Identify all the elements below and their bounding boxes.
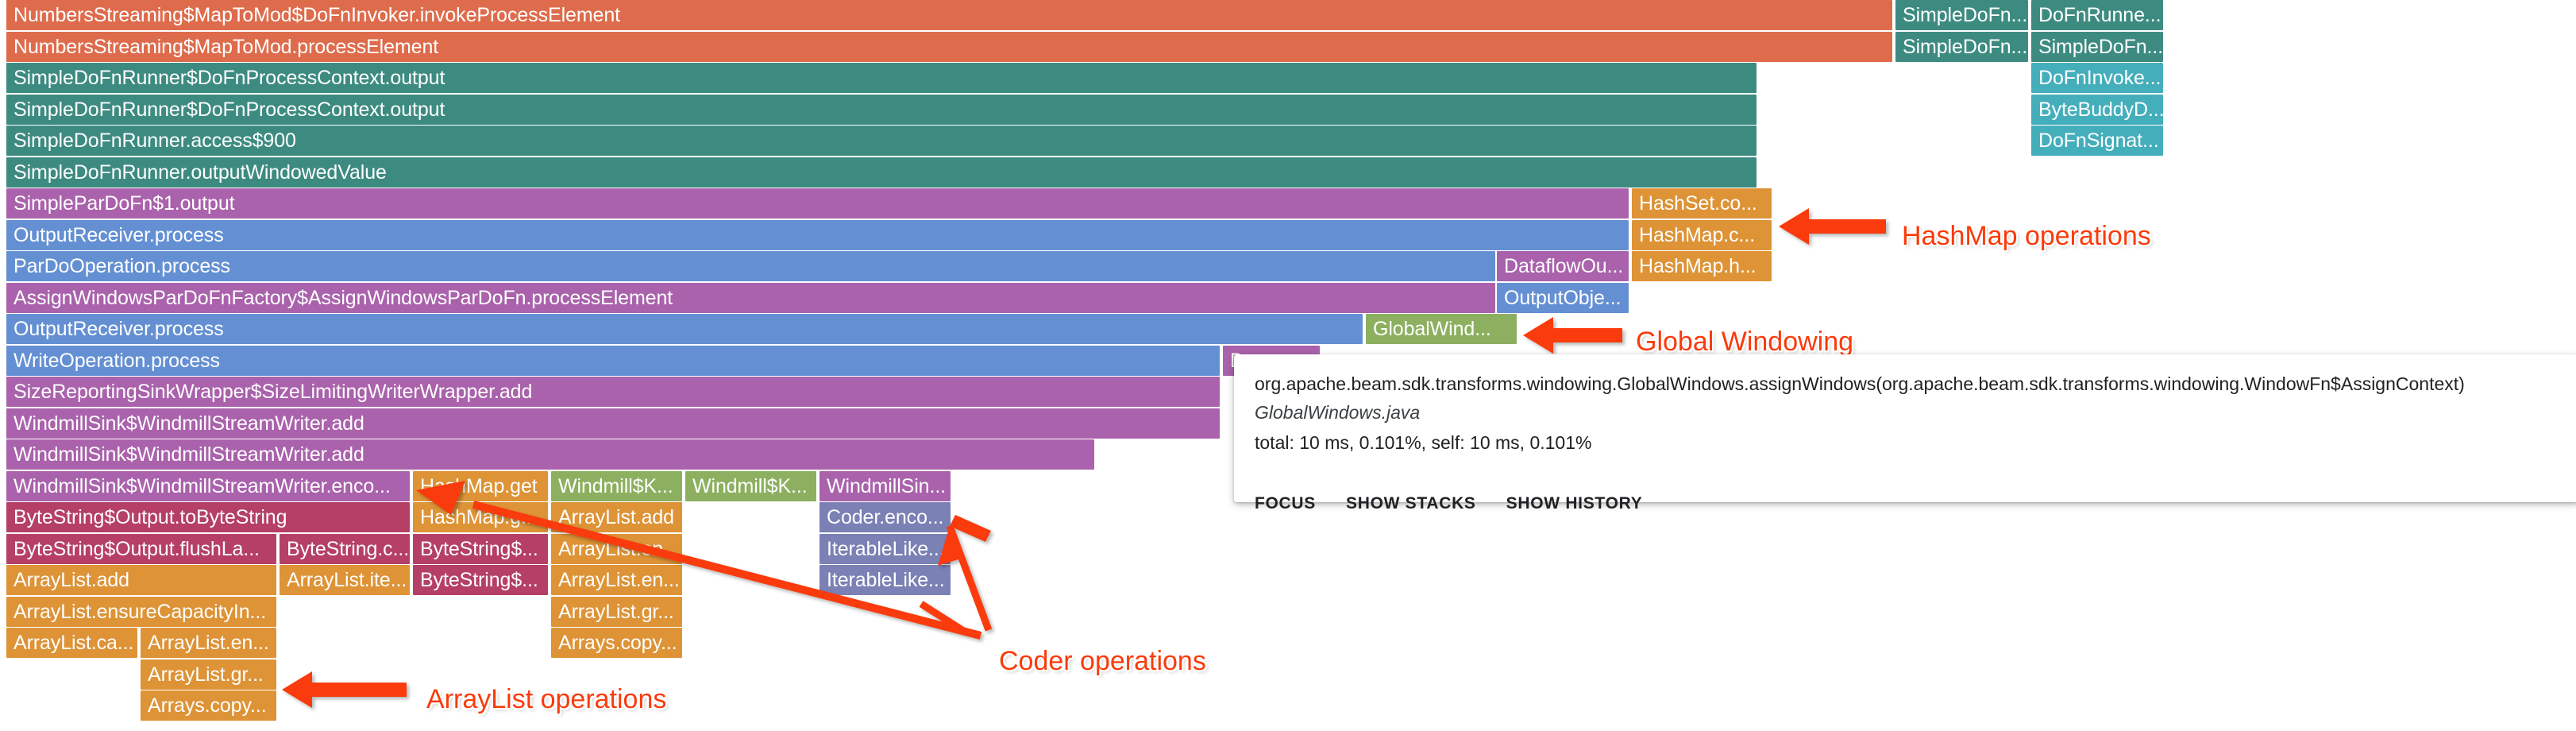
hashmap-arrow	[1779, 208, 1886, 245]
flame-frame-label: Windmill$K...	[558, 471, 682, 501]
flame-frame[interactable]: Windmill$K...	[685, 471, 816, 501]
flame-frame-label: ByteBuddyD...	[2038, 95, 2163, 125]
show-history-button[interactable]: SHOW HISTORY	[1506, 494, 1643, 513]
flame-frame-label: ArrayList.add	[558, 502, 682, 532]
flame-frame-label: GlobalWind...	[1373, 314, 1517, 344]
flame-frame[interactable]: ArrayList.ensureCapacityIn...	[6, 597, 276, 627]
flame-frame-label: WindmillSink$WindmillStreamWriter.add	[13, 439, 1094, 470]
flame-frame[interactable]: ByteString$...	[413, 534, 548, 564]
flame-frame-label: OutputObje...	[1504, 283, 1629, 313]
flame-frame[interactable]: Coder.enco...	[819, 502, 951, 532]
flame-frame-label: WindmillSink$WindmillStreamWriter.enco..…	[13, 471, 410, 501]
flame-frame[interactable]: DataflowOu...	[1497, 251, 1629, 281]
flame-frame-label: ArrayList.gr...	[148, 659, 276, 690]
flame-frame[interactable]: SimpleDoFnRunner$DoFnProcessContext.outp…	[6, 63, 1757, 93]
flame-frame[interactable]: ArrayList.en...	[551, 565, 682, 595]
flame-frame[interactable]: SimpleParDoFn$1.output	[6, 188, 1629, 219]
flame-frame[interactable]: NumbersStreaming$MapToMod$DoFnInvoker.in…	[6, 0, 1892, 30]
flame-frame-label: HashMap.get	[420, 471, 548, 501]
flame-frame-label: SimpleDoFnRunner.access$900	[13, 126, 1757, 156]
flame-frame[interactable]: ArrayList.en...	[141, 628, 276, 658]
flame-frame[interactable]: HashMap.h...	[1632, 251, 1772, 281]
flame-frame-label: SimpleDoFnRunner$DoFnProcessContext.outp…	[13, 95, 1757, 125]
flame-frame-label: HashMap.c...	[1639, 220, 1772, 250]
flame-frame[interactable]: ByteString$...	[413, 565, 548, 595]
flame-frame-label: ArrayList.en...	[558, 534, 682, 564]
flame-frame-label: IterableLike...	[827, 534, 951, 564]
flame-frame[interactable]: WindmillSink$WindmillStreamWriter.enco..…	[6, 471, 410, 501]
flame-frame[interactable]: IterableLike...	[819, 534, 951, 564]
flame-frame-label: OutputReceiver.process	[13, 314, 1363, 344]
flame-frame-label: SizeReportingSinkWrapper$SizeLimitingWri…	[13, 377, 1220, 407]
flame-frame[interactable]: Arrays.copy...	[551, 628, 682, 658]
flame-frame[interactable]: SimpleDoFn...	[2031, 32, 2163, 62]
tooltip-stats: total: 10 ms, 0.101%, self: 10 ms, 0.101…	[1255, 429, 2559, 456]
flame-frame-label: DoFnInvoke...	[2038, 63, 2163, 93]
flame-frame-label: SimpleDoFn...	[2038, 32, 2163, 62]
flame-frame-label: NumbersStreaming$MapToMod.processElement	[13, 32, 1892, 62]
flame-graph-view: NumbersStreaming$MapToMod$DoFnInvoker.in…	[0, 0, 2576, 731]
flame-frame-label: ParDoOperation.process	[13, 251, 1495, 281]
annotation-arraylist-operations: ArrayList operations	[426, 683, 666, 715]
flame-frame-label: HashMap.g...	[420, 502, 548, 532]
flame-frame-label: DoFnSignat...	[2038, 126, 2163, 156]
flame-frame[interactable]: WindmillSin...	[819, 471, 951, 501]
flame-frame[interactable]: OutputReceiver.process	[6, 220, 1629, 250]
flame-frame[interactable]: HashMap.get	[413, 471, 548, 501]
flame-frame-label: ByteString.c...	[287, 534, 410, 564]
flame-frame-label: WriteOperation.process	[13, 346, 1220, 376]
flame-frame-label: WindmillSink$WindmillStreamWriter.add	[13, 408, 1220, 439]
flame-frame-label: ArrayList.ensureCapacityIn...	[13, 597, 276, 627]
flame-frame-label: Arrays.copy...	[558, 628, 682, 658]
flame-frame[interactable]: NumbersStreaming$MapToMod.processElement	[6, 32, 1892, 62]
flame-frame[interactable]: ByteString.c...	[280, 534, 410, 564]
flame-frame-label: IterableLike...	[827, 565, 951, 595]
flame-frame[interactable]: ArrayList.ca...	[6, 628, 137, 658]
flame-frame-label: SimpleParDoFn$1.output	[13, 188, 1629, 219]
flame-frame-label: ArrayList.en...	[148, 628, 276, 658]
flame-frame-label: ArrayList.ca...	[13, 628, 137, 658]
flame-frame[interactable]: SimpleDoFnRunner.access$900	[6, 126, 1757, 156]
flame-frame-label: SimpleDoFn...	[1903, 0, 2028, 30]
flame-frame-label: AssignWindowsParDoFnFactory$AssignWindow…	[13, 283, 1495, 313]
flame-frame[interactable]: HashMap.c...	[1632, 220, 1772, 250]
flame-frame[interactable]: AssignWindowsParDoFnFactory$AssignWindow…	[6, 283, 1495, 313]
tooltip-file: GlobalWindows.java	[1255, 399, 2559, 426]
flame-frame[interactable]: IterableLike...	[819, 565, 951, 595]
flame-frame[interactable]: Arrays.copy...	[141, 690, 276, 721]
tooltip-signature: org.apache.beam.sdk.transforms.windowing…	[1255, 372, 2559, 396]
flame-frame[interactable]: WriteOperation.process	[6, 346, 1220, 376]
flame-frame[interactable]: SizeReportingSinkWrapper$SizeLimitingWri…	[6, 377, 1220, 407]
annotation-global-windowing: Global Windowing	[1636, 326, 1853, 358]
flame-frame[interactable]: HashSet.co...	[1632, 188, 1772, 219]
flame-frame-label: Arrays.copy...	[148, 690, 276, 721]
frame-tooltip[interactable]: org.apache.beam.sdk.transforms.windowing…	[1234, 354, 2576, 502]
flame-frame[interactable]: ParDoOperation.process	[6, 251, 1495, 281]
flame-frame[interactable]: ArrayList.gr...	[551, 597, 682, 627]
flame-frame-label: ArrayList.en...	[558, 565, 682, 595]
flame-frame[interactable]: OutputReceiver.process	[6, 314, 1363, 344]
flame-frame-label: ByteString$Output.flushLa...	[13, 534, 276, 564]
flame-frame-label: DataflowOu...	[1504, 251, 1629, 281]
flame-frame-label: Windmill$K...	[692, 471, 816, 501]
flame-frame[interactable]: ArrayList.add	[551, 502, 682, 532]
flame-frame-label: ByteString$...	[420, 565, 548, 595]
flame-frame[interactable]: SimpleDoFn...	[1895, 0, 2028, 30]
flame-frame[interactable]: ArrayList.en...	[551, 534, 682, 564]
flame-frame-label: ArrayList.add	[13, 565, 276, 595]
global-windowing-arrow	[1523, 317, 1622, 354]
flame-frame[interactable]: WindmillSink$WindmillStreamWriter.add	[6, 408, 1220, 439]
arraylist-arrow	[282, 671, 407, 708]
flame-frame[interactable]: ArrayList.gr...	[141, 659, 276, 690]
flame-frame-label: WindmillSin...	[827, 471, 951, 501]
flame-frame[interactable]: OutputObje...	[1497, 283, 1629, 313]
flame-frame-label: ArrayList.ite...	[287, 565, 410, 595]
flame-frame-label: HashMap.h...	[1639, 251, 1772, 281]
flame-frame[interactable]: WindmillSink$WindmillStreamWriter.add	[6, 439, 1094, 470]
flame-frame-label: SimpleDoFnRunner$DoFnProcessContext.outp…	[13, 63, 1757, 93]
annotation-hashmap-operations: HashMap operations	[1902, 220, 2151, 252]
show-stacks-button[interactable]: SHOW STACKS	[1346, 494, 1476, 513]
flame-frame[interactable]: SimpleDoFnRunner.outputWindowedValue	[6, 157, 1757, 188]
flame-frame[interactable]: ArrayList.add	[6, 565, 276, 595]
flame-frame[interactable]: DoFnInvoke...	[2031, 63, 2163, 93]
flame-frame[interactable]: ArrayList.ite...	[280, 565, 410, 595]
flame-frame[interactable]: GlobalWind...	[1366, 314, 1517, 344]
flame-frame[interactable]: ByteBuddyD...	[2031, 95, 2163, 125]
flame-frame[interactable]: ByteString$Output.flushLa...	[6, 534, 276, 564]
flame-frame[interactable]: HashMap.g...	[413, 502, 548, 532]
focus-button[interactable]: FOCUS	[1255, 494, 1316, 513]
flame-frame-label: ByteString$...	[420, 534, 548, 564]
flame-frame-label: SimpleDoFn...	[1903, 32, 2028, 62]
flame-frame[interactable]: Windmill$K...	[551, 471, 682, 501]
flame-frame-label: DoFnRunne...	[2038, 0, 2163, 30]
flame-frame[interactable]: DoFnSignat...	[2031, 126, 2163, 156]
flame-frame-label: NumbersStreaming$MapToMod$DoFnInvoker.in…	[13, 0, 1892, 30]
flame-frame-label: OutputReceiver.process	[13, 220, 1629, 250]
flame-frame-label: HashSet.co...	[1639, 188, 1772, 219]
flame-frame[interactable]: SimpleDoFn...	[1895, 32, 2028, 62]
flame-frame[interactable]: DoFnRunne...	[2031, 0, 2163, 30]
annotation-coder-operations: Coder operations	[999, 645, 1206, 677]
flame-frame-label: SimpleDoFnRunner.outputWindowedValue	[13, 157, 1757, 188]
tooltip-actions: FOCUS SHOW STACKS SHOW HISTORY	[1255, 494, 2559, 513]
flame-frame-label: ByteString$Output.toByteString	[13, 502, 410, 532]
flame-frame[interactable]: ByteString$Output.toByteString	[6, 502, 410, 532]
flame-frame[interactable]: SimpleDoFnRunner$DoFnProcessContext.outp…	[6, 95, 1757, 125]
flame-frame-label: ArrayList.gr...	[558, 597, 682, 627]
flame-frame-label: Coder.enco...	[827, 502, 951, 532]
